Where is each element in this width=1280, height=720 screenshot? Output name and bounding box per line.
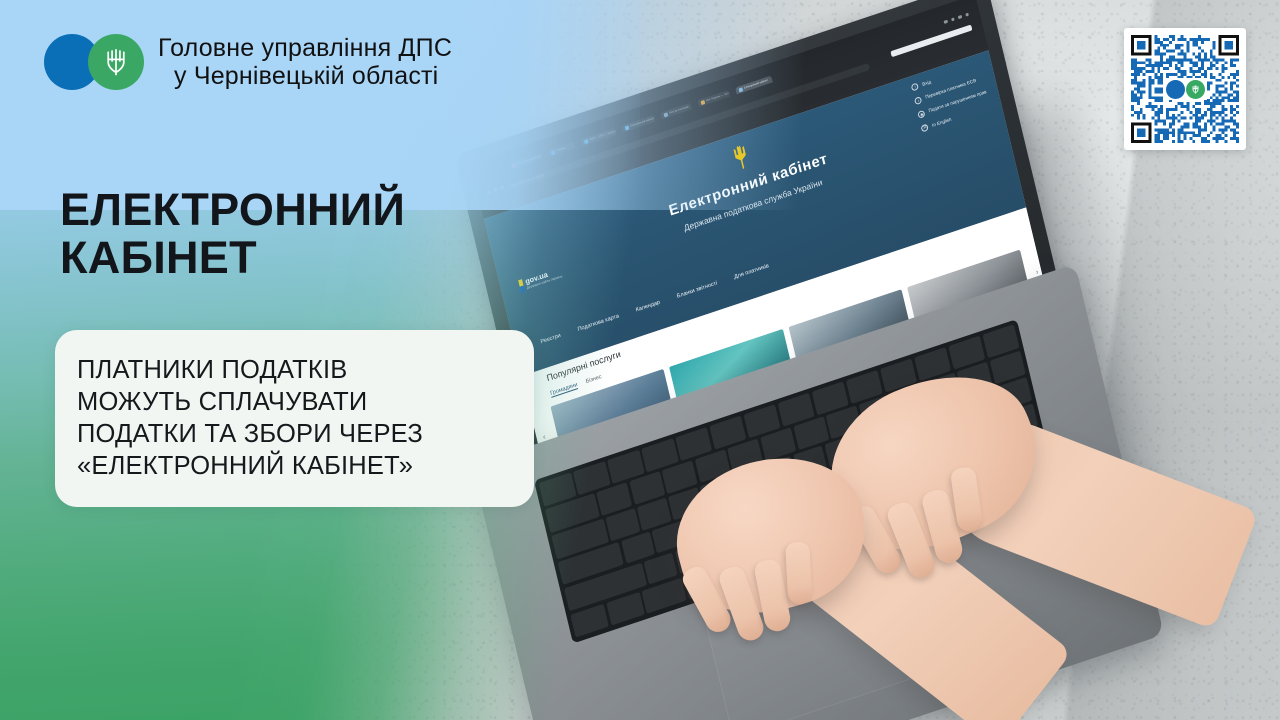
callout-line-1: ПЛАТНИКИ ПОДАТКІВ [77, 354, 512, 386]
callout-box: ПЛАТНИКИ ПОДАТКІВ МОЖУТЬ СПЛАЧУВАТИ ПОДА… [55, 330, 534, 507]
brand-line-2: у Чернівецькій області [158, 62, 452, 90]
poster-canvas: Державна податкова Головна ЄСВ — ЗВІТ — … [0, 0, 1280, 720]
green-circle-icon [88, 34, 144, 90]
callout-line-4: «ЕЛЕКТРОННИЙ КАБІНЕТ» [77, 450, 512, 482]
qr-center-logo [1163, 78, 1207, 100]
finger [785, 542, 812, 605]
green-circle-icon [1186, 80, 1205, 99]
brand-header: Головне управління ДПС у Чернівецькій об… [44, 32, 452, 92]
page-title: ЕЛЕКТРОННИЙ КАБІНЕТ [60, 186, 405, 281]
callout-line-3: ПОДАТКИ ТА ЗБОРИ ЧЕРЕЗ [77, 418, 512, 450]
blue-circle-icon [1166, 80, 1185, 99]
nav-item-report-forms[interactable]: Бланки звітності [676, 280, 718, 299]
tryzub-icon [1191, 84, 1200, 95]
dps-logo [44, 32, 148, 92]
tryzub-icon [103, 46, 129, 78]
headline-line-2: КАБІНЕТ [60, 234, 405, 282]
headline-line-1: ЕЛЕКТРОННИЙ [60, 186, 405, 234]
brand-text: Головне управління ДПС у Чернівецькій об… [158, 34, 452, 90]
nav-item-for-taxpayers[interactable]: Для платників [733, 263, 769, 280]
qr-code[interactable] [1124, 28, 1246, 150]
callout-line-2: МОЖУТЬ СПЛАЧУВАТИ [77, 386, 512, 418]
brand-line-1: Головне управління ДПС [158, 34, 452, 62]
